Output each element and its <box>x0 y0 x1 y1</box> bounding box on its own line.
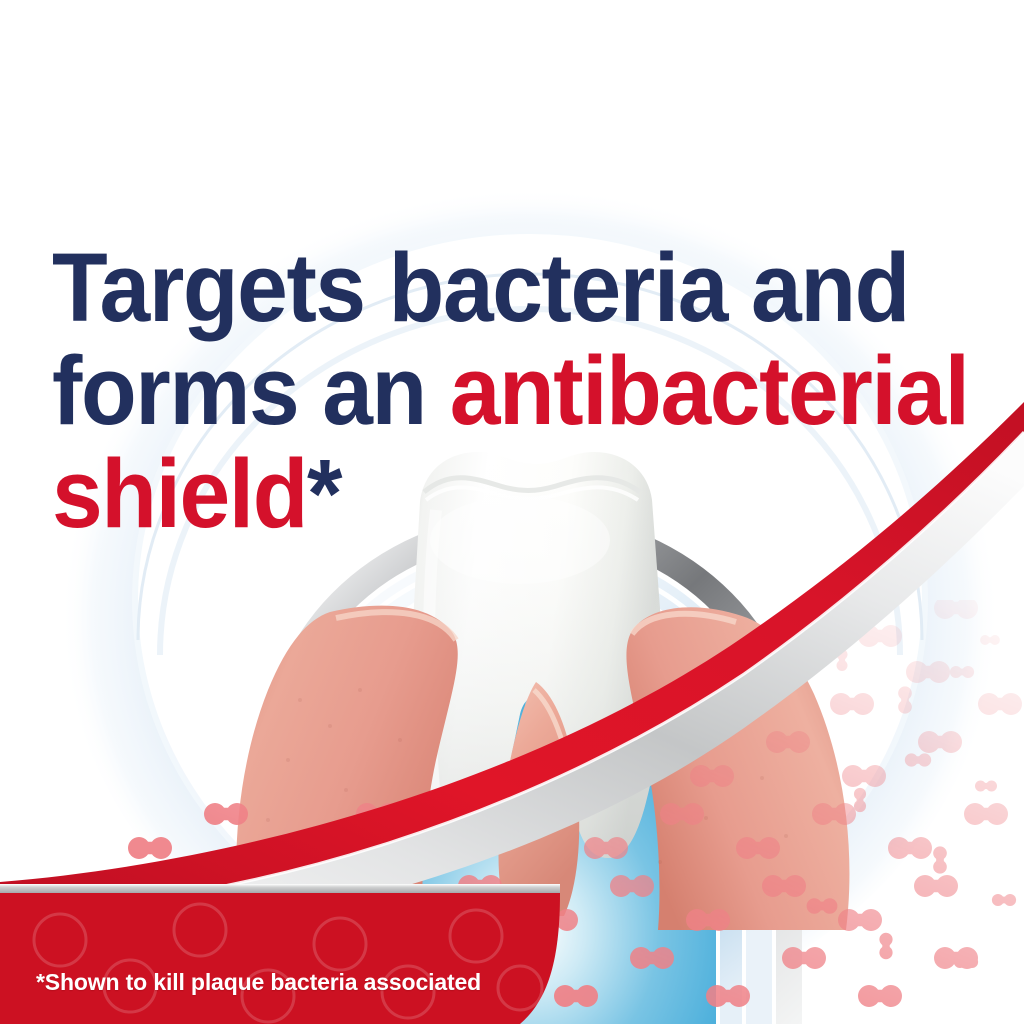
advertisement-canvas: Targets bacteria andforms an antibacteri… <box>0 0 1024 1024</box>
headline-footnote-asterisk: * <box>307 439 341 548</box>
headline-line-3: shield* <box>52 442 945 545</box>
headline-line-1-text: Targets bacteria and <box>52 233 909 342</box>
headline-line-3-red-text: shield <box>52 439 307 548</box>
headline-line-2-red-text: antibacterial <box>450 336 969 445</box>
headline-line-2-navy-text: forms an <box>52 336 450 445</box>
headline-line-1: Targets bacteria and <box>52 236 945 339</box>
footnote-caption: *Shown to kill plaque bacteria associate… <box>36 905 491 1024</box>
headline: Targets bacteria andforms an antibacteri… <box>52 30 945 751</box>
footnote-line-1: *Shown to kill plaque bacteria associate… <box>36 967 491 998</box>
headline-line-2: forms an antibacterial <box>52 339 945 442</box>
